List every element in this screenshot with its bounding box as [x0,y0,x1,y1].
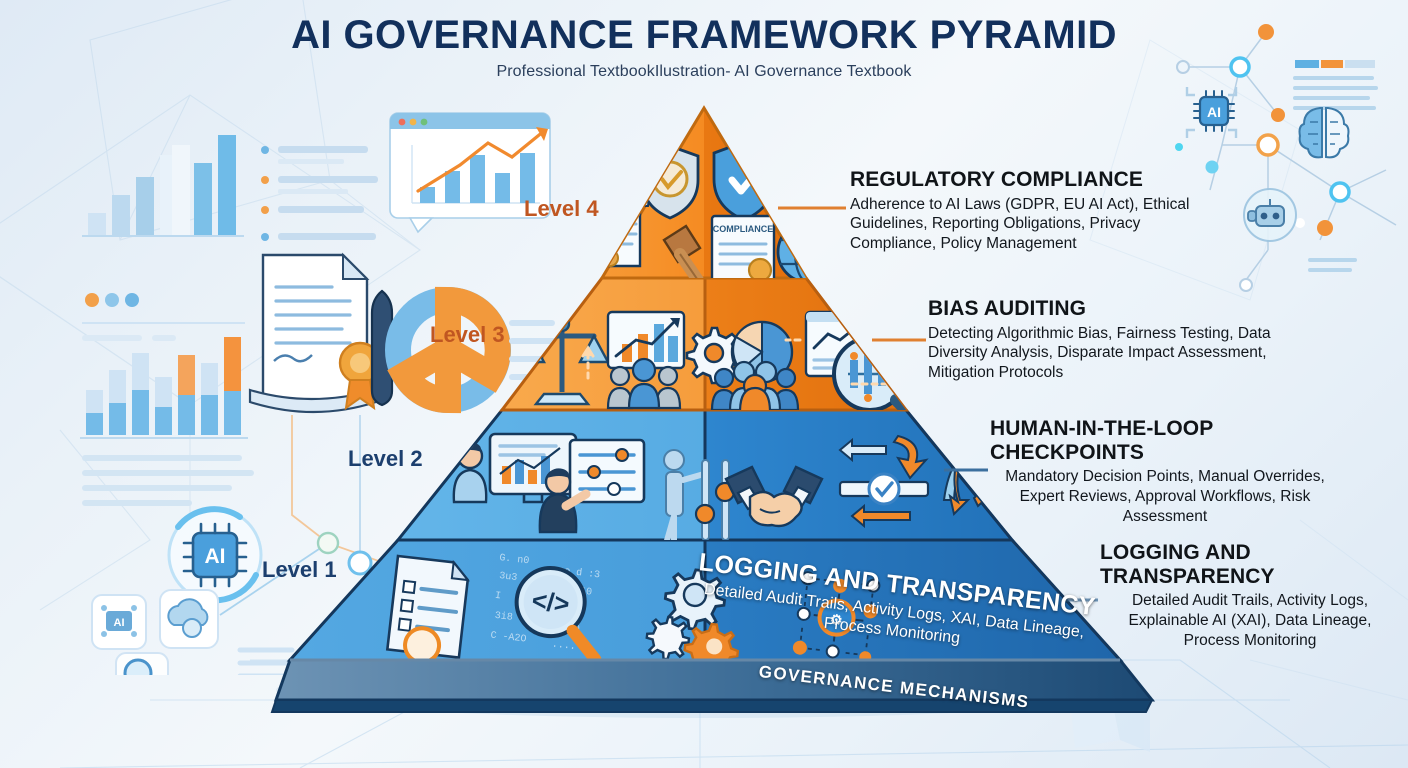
callout-logging-transparency[interactable]: LOGGING AND TRANSPARENCY Detailed Audit … [1100,541,1400,651]
callout-description: Adherence to AI Laws (GDPR, EU AI Act), … [850,195,1210,254]
governance-pyramid: G. n0no d :3 3u3ri10 Io 0 3i8o 0 C -A2O·… [0,0,1408,768]
pyramid-tier-level-3[interactable] [502,278,916,420]
level-tag-2[interactable]: Level 2 [348,446,423,472]
people-group-icon [608,359,680,408]
page-title: AI GOVERNANCE FRAMEWORK PYRAMID [0,14,1408,56]
level-tag-4[interactable]: Level 4 [524,196,599,222]
svg-text:COMPLIANCE: COMPLIANCE [713,224,774,234]
callout-description: Mandatory Decision Points, Manual Overri… [990,467,1340,526]
callout-description: Detailed Audit Trails, Activity Logs, Ex… [1100,591,1400,650]
callout-human-in-the-loop[interactable]: HUMAN-IN-THE-LOOP CHECKPOINTS Mandatory … [990,417,1340,527]
pyramid-tier-level-2[interactable] [398,410,1012,544]
svg-text:</>: </> [530,585,571,619]
svg-text:3u3: 3u3 [499,571,518,584]
infographic-canvas: AI AI [0,0,1408,768]
callout-bias-auditing[interactable]: BIAS AUDITING Detecting Algorithmic Bias… [928,297,1288,383]
header: AI GOVERNANCE FRAMEWORK PYRAMID Professi… [0,14,1408,81]
globe-icon [778,222,838,282]
callout-description: Detecting Algorithmic Bias, Fairness Tes… [928,324,1288,383]
svg-text:AGL: AGL [604,199,634,215]
level-tag-1[interactable]: Level 1 [262,557,337,583]
svg-text:I: I [494,591,501,603]
callout-title: BIAS AUDITING [928,297,1288,321]
callout-title: HUMAN-IN-THE-LOOP CHECKPOINTS [990,417,1340,464]
level-tag-3[interactable]: Level 3 [430,322,505,348]
svg-text:3i8: 3i8 [494,610,513,624]
callout-regulatory-compliance[interactable]: REGULATORY COMPLIANCE Adherence to AI La… [850,168,1210,254]
callout-title: LOGGING AND TRANSPARENCY [1100,541,1400,588]
page-subtitle: Professional TextbookIlustration- AI Gov… [0,63,1408,81]
callout-title: REGULATORY COMPLIANCE [850,168,1210,192]
